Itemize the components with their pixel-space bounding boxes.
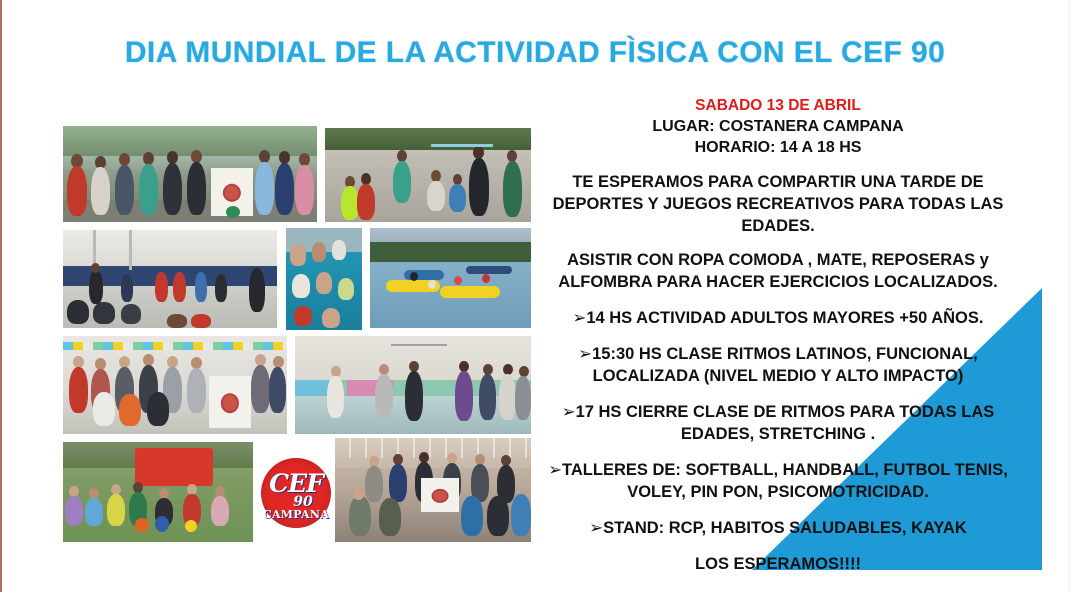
slide-canvas: DIA MUNDIAL DE LA ACTIVIDAD FÌSICA CON E… [0, 0, 1070, 592]
event-details-text: SABADO 13 DE ABRIL LUGAR: COSTANERA CAMP… [546, 96, 1010, 574]
event-place: LUGAR: COSTANERA CAMPANA [546, 116, 1010, 137]
photo-gym-volleyball [63, 230, 277, 328]
event-date: SABADO 13 DE ABRIL [546, 96, 1010, 116]
stands-item-text: STAND: RCP, HABITOS SALUDABLES, KAYAK [603, 519, 967, 537]
photo-gym-class-line [295, 336, 531, 434]
slide-left-border [0, 0, 2, 592]
stands-item: ➢STAND: RCP, HABITOS SALUDABLES, KAYAK [546, 517, 1010, 539]
workshops-item: ➢TALLERES DE: SOFTBALL, HANDBALL, FUTBOL… [546, 459, 1010, 503]
photo-pool-swimming [286, 228, 362, 330]
bullet-arrow-icon: ➢ [589, 518, 603, 537]
cef90-logo: CEF 90 CAMPANA [261, 458, 331, 528]
schedule-item-3: ➢17 HS CIERRE CLASE DE RITMOS PARA TODAS… [546, 401, 1010, 445]
page-title: DIA MUNDIAL DE LA ACTIVIDAD FÌSICA CON E… [0, 36, 1070, 70]
photo-schoolyard-activity [325, 128, 531, 222]
intro-paragraph: TE ESPERAMOS PARA COMPARTIR UNA TARDE DE… [546, 171, 1010, 237]
photo-adults-group-flag [63, 336, 287, 434]
schedule-item-2: ➢15:30 HS CLASE RITMOS LATINOS, FUNCIONA… [546, 343, 1010, 387]
logo-cef-text: CEF [261, 471, 331, 496]
bullet-arrow-icon: ➢ [578, 344, 592, 363]
schedule-item-3-text: 17 HS CIERRE CLASE DE RITMOS PARA TODAS … [576, 403, 995, 443]
photo-group-outdoor-flag [63, 126, 317, 222]
closing-text: LOS ESPERAMOS!!!! [546, 555, 1010, 574]
schedule-item-1: ➢14 HS ACTIVIDAD ADULTOS MAYORES +50 AÑO… [546, 307, 1010, 329]
bullet-arrow-icon: ➢ [562, 402, 576, 421]
bullet-arrow-icon: ➢ [548, 460, 562, 479]
schedule-item-2-text: 15:30 HS CLASE RITMOS LATINOS, FUNCIONAL… [592, 345, 978, 385]
photo-gym-team-photo [335, 438, 531, 542]
photo-grass-banner [63, 442, 253, 542]
schedule-item-1-text: 14 HS ACTIVIDAD ADULTOS MAYORES +50 AÑOS… [586, 309, 983, 327]
what-to-bring-paragraph: ASISTIR CON ROPA COMODA , MATE, REPOSERA… [546, 249, 1010, 293]
photo-kayak-river [370, 228, 531, 328]
logo-city-text: CAMPANA [261, 508, 331, 521]
bullet-arrow-icon: ➢ [573, 308, 587, 327]
workshops-item-text: TALLERES DE: SOFTBALL, HANDBALL, FUTBOL … [562, 461, 1008, 501]
event-schedule: HORARIO: 14 A 18 HS [546, 137, 1010, 158]
